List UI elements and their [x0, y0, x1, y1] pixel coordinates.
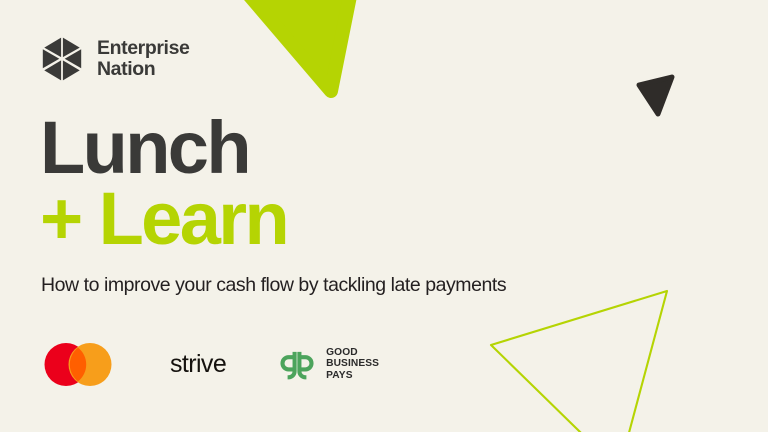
partner-logo-strive: strive	[170, 338, 226, 390]
enterprise-nation-hexagon-icon	[40, 36, 84, 82]
partner-logo-mastercard	[42, 338, 114, 390]
outline-lime-triangle-icon	[491, 291, 667, 432]
partner-logo-row: strive GOOD BUSINESS PAYS	[42, 338, 379, 390]
dark-triangle-icon	[639, 77, 672, 114]
subtitle: How to improve your cash flow by tacklin…	[41, 273, 506, 297]
brand-name: Enterprise Nation	[97, 38, 189, 80]
top-lime-triangle-icon	[214, 0, 352, 91]
good-business-pays-wordmark: GOOD BUSINESS PAYS	[326, 347, 379, 381]
partner-logo-good-business-pays: GOOD BUSINESS PAYS	[276, 338, 379, 390]
good-business-pays-logo-icon	[276, 343, 318, 385]
strive-wordmark-icon: strive	[170, 352, 226, 377]
page-title: Lunch + Learn	[40, 112, 287, 254]
brand-lockup: Enterprise Nation	[40, 36, 189, 82]
title-line-learn: + Learn	[40, 183, 287, 254]
presentation-slide: Enterprise Nation Lunch + Learn How to i…	[0, 0, 768, 432]
mastercard-logo-icon	[42, 342, 114, 387]
title-line-lunch: Lunch	[40, 112, 287, 183]
